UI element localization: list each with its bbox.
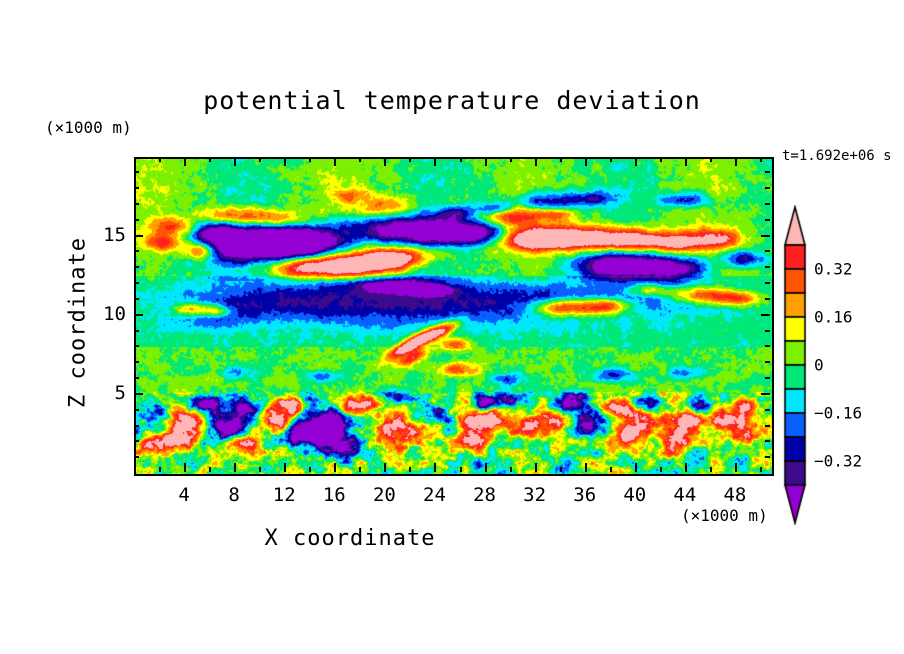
colorbar bbox=[782, 205, 808, 525]
tick-mark bbox=[134, 440, 139, 442]
tick-mark bbox=[765, 345, 770, 347]
tick-mark bbox=[761, 393, 770, 395]
tick-mark bbox=[134, 409, 139, 411]
tick-mark bbox=[134, 171, 139, 173]
tick-mark bbox=[761, 235, 770, 237]
tick-mark bbox=[765, 298, 770, 300]
tick-mark bbox=[535, 157, 537, 166]
tick-mark bbox=[765, 187, 770, 189]
x-tick-label: 44 bbox=[673, 484, 696, 506]
tick-mark bbox=[134, 377, 139, 379]
tick-mark bbox=[134, 361, 139, 363]
x-tick-label: 36 bbox=[573, 484, 596, 506]
tick-mark bbox=[384, 463, 386, 472]
x-tick-label: 20 bbox=[373, 484, 396, 506]
tick-mark bbox=[134, 425, 139, 427]
x-tick-label: 4 bbox=[178, 484, 189, 506]
tick-mark bbox=[284, 157, 286, 166]
tick-mark bbox=[710, 157, 712, 162]
tick-mark bbox=[134, 456, 139, 458]
colorbar-tick-label: −0.16 bbox=[814, 404, 862, 423]
tick-mark bbox=[735, 463, 737, 472]
tick-mark bbox=[134, 298, 139, 300]
tick-mark bbox=[434, 463, 436, 472]
tick-mark bbox=[735, 157, 737, 166]
y-axis-units: (×1000 m) bbox=[45, 118, 132, 137]
tick-mark bbox=[234, 463, 236, 472]
tick-mark bbox=[560, 157, 562, 162]
x-tick-label: 40 bbox=[623, 484, 646, 506]
tick-mark bbox=[660, 467, 662, 472]
tick-mark bbox=[635, 157, 637, 166]
tick-mark bbox=[510, 157, 512, 162]
contour-plot-area bbox=[134, 157, 774, 476]
tick-mark bbox=[359, 467, 361, 472]
tick-mark bbox=[134, 314, 143, 316]
tick-mark bbox=[209, 467, 211, 472]
x-axis-title: X coordinate bbox=[0, 526, 700, 551]
tick-mark bbox=[309, 157, 311, 162]
tick-mark bbox=[209, 157, 211, 162]
tick-mark bbox=[765, 377, 770, 379]
x-tick-label: 12 bbox=[273, 484, 296, 506]
x-tick-label: 32 bbox=[523, 484, 546, 506]
tick-mark bbox=[660, 157, 662, 162]
tick-mark bbox=[765, 203, 770, 205]
tick-mark bbox=[760, 467, 762, 472]
tick-mark bbox=[134, 345, 139, 347]
y-tick-label: 5 bbox=[88, 382, 126, 404]
tick-mark bbox=[134, 219, 139, 221]
x-tick-label: 16 bbox=[323, 484, 346, 506]
colorbar-gradient bbox=[782, 205, 808, 525]
tick-mark bbox=[159, 467, 161, 472]
tick-mark bbox=[134, 235, 143, 237]
tick-mark bbox=[284, 463, 286, 472]
y-tick-label: 10 bbox=[88, 303, 126, 325]
tick-mark bbox=[134, 187, 139, 189]
colorbar-tick-label: −0.32 bbox=[814, 452, 862, 471]
tick-mark bbox=[635, 463, 637, 472]
tick-mark bbox=[460, 157, 462, 162]
tick-mark bbox=[485, 463, 487, 472]
tick-mark bbox=[409, 157, 411, 162]
tick-mark bbox=[184, 463, 186, 472]
tick-mark bbox=[485, 157, 487, 166]
tick-mark bbox=[134, 282, 139, 284]
tick-mark bbox=[384, 157, 386, 166]
tick-mark bbox=[159, 157, 161, 162]
x-tick-label: 8 bbox=[228, 484, 239, 506]
tick-mark bbox=[460, 467, 462, 472]
tick-mark bbox=[760, 157, 762, 162]
tick-mark bbox=[309, 467, 311, 472]
tick-mark bbox=[765, 456, 770, 458]
tick-mark bbox=[184, 157, 186, 166]
colorbar-tick-label: 0.16 bbox=[814, 308, 853, 327]
tick-mark bbox=[765, 219, 770, 221]
tick-mark bbox=[134, 330, 139, 332]
tick-mark bbox=[535, 463, 537, 472]
y-axis-title: Z coordinate bbox=[66, 223, 91, 423]
tick-mark bbox=[610, 467, 612, 472]
tick-mark bbox=[409, 467, 411, 472]
tick-mark bbox=[765, 250, 770, 252]
colorbar-tick-label: 0.32 bbox=[814, 260, 853, 279]
tick-mark bbox=[434, 157, 436, 166]
y-tick-label: 15 bbox=[88, 224, 126, 246]
tick-mark bbox=[334, 157, 336, 166]
tick-mark bbox=[259, 157, 261, 162]
x-tick-label: 24 bbox=[423, 484, 446, 506]
tick-mark bbox=[134, 393, 143, 395]
tick-mark bbox=[685, 157, 687, 166]
temperature-deviation-field bbox=[136, 159, 772, 474]
tick-mark bbox=[765, 266, 770, 268]
tick-mark bbox=[134, 266, 139, 268]
tick-mark bbox=[134, 203, 139, 205]
tick-mark bbox=[761, 314, 770, 316]
tick-mark bbox=[560, 467, 562, 472]
x-axis-units: (×1000 m) bbox=[681, 506, 768, 525]
tick-mark bbox=[234, 157, 236, 166]
x-tick-label: 28 bbox=[473, 484, 496, 506]
tick-mark bbox=[585, 463, 587, 472]
tick-mark bbox=[765, 361, 770, 363]
tick-mark bbox=[134, 250, 139, 252]
colorbar-tick-label: 0 bbox=[814, 356, 824, 375]
tick-mark bbox=[765, 409, 770, 411]
time-annotation: t=1.692e+06 s bbox=[782, 148, 892, 164]
x-tick-label: 48 bbox=[723, 484, 746, 506]
tick-mark bbox=[710, 467, 712, 472]
page-title: potential temperature deviation bbox=[0, 86, 904, 115]
tick-mark bbox=[259, 467, 261, 472]
tick-mark bbox=[359, 157, 361, 162]
tick-mark bbox=[334, 463, 336, 472]
tick-mark bbox=[765, 330, 770, 332]
tick-mark bbox=[610, 157, 612, 162]
tick-mark bbox=[765, 440, 770, 442]
tick-mark bbox=[510, 467, 512, 472]
tick-mark bbox=[585, 157, 587, 166]
tick-mark bbox=[765, 282, 770, 284]
tick-mark bbox=[685, 463, 687, 472]
tick-mark bbox=[765, 425, 770, 427]
tick-mark bbox=[765, 171, 770, 173]
